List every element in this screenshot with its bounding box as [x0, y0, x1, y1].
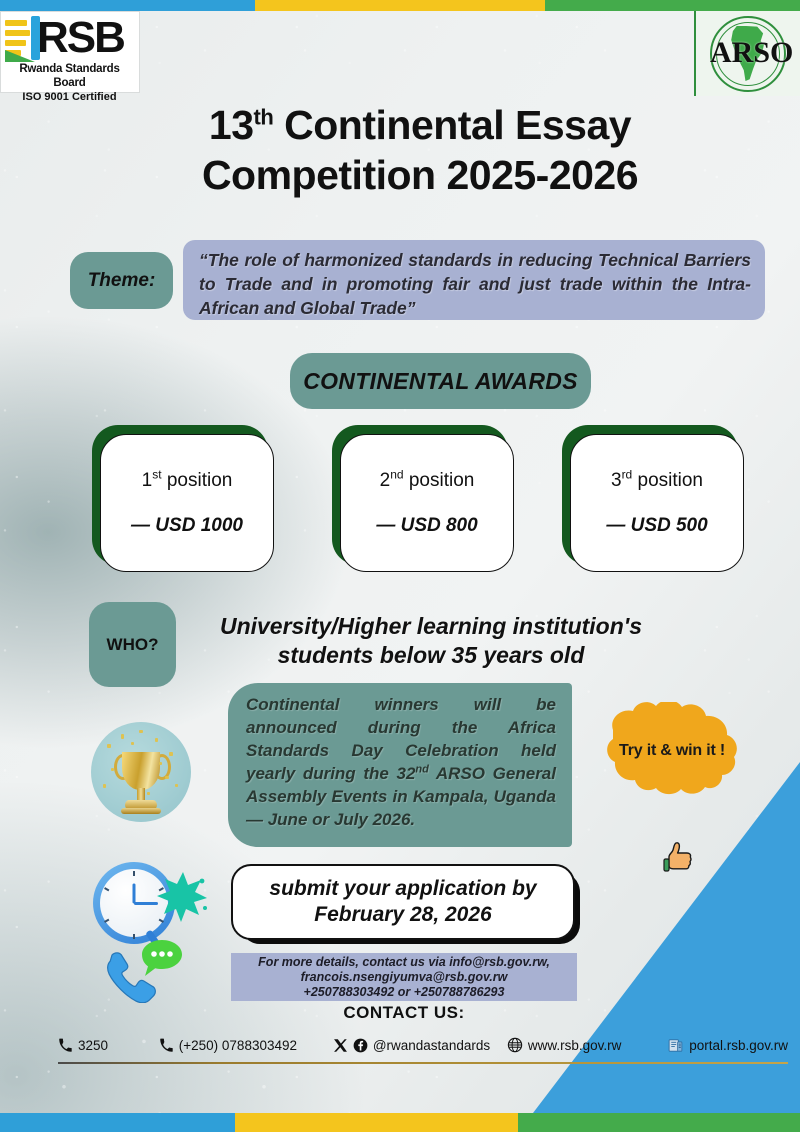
award-position-word: position [162, 470, 233, 491]
award-ordinal-number: 2 [380, 470, 391, 491]
theme-statement-box: “The role of harmonized standards in red… [183, 240, 765, 320]
confetti-dot [175, 784, 178, 787]
deadline-box: submit your application by February 28, … [231, 864, 575, 940]
thumbs-up-icon [655, 837, 699, 881]
clock-tick [133, 934, 135, 939]
rsb-logo: RSB Rwanda Standards Board ISO 9001 Cert… [0, 11, 140, 93]
footer-text-shortcode: 3250 [78, 1038, 108, 1053]
chat-bubble-icon [140, 938, 184, 978]
facebook-icon[interactable] [353, 1038, 368, 1053]
deadline-line1: submit your application by [269, 877, 536, 900]
title-line1-post: Continental Essay [273, 102, 631, 148]
trophy-base-plinth [121, 808, 161, 814]
award-ordinal-number: 3 [611, 470, 622, 491]
title-line2: Competition 2025-2026 [202, 152, 638, 198]
award-prize-amount: — USD 500 [606, 515, 707, 537]
award-position-label: 1st position [142, 469, 233, 493]
clock-tick [133, 871, 135, 876]
confetti-dot [147, 792, 150, 795]
confetti-dot [121, 734, 124, 739]
announcement-box: Continental winners will be announced du… [228, 683, 572, 847]
title-line1-pre: 13 [209, 102, 254, 148]
confetti-dot [139, 730, 143, 733]
top-bar-green [545, 0, 800, 11]
footer-item-website[interactable]: www.rsb.gov.rw [507, 1037, 667, 1053]
trophy-image [91, 722, 191, 822]
award-prize-amount: — USD 800 [376, 515, 477, 537]
rsb-wordmark: RSB [37, 16, 124, 60]
announcement-ordinal-suffix: nd [415, 763, 428, 775]
details-line3: +250788303492 or +250788786293 [304, 985, 505, 999]
footer-item-shortcode: 3250 [58, 1038, 159, 1053]
poster-canvas: RSB Rwanda Standards Board ISO 9001 Cert… [0, 0, 800, 1132]
contact-us-heading: CONTACT US: [231, 1003, 577, 1023]
try-it-cloud-callout: Try it & win it ! [583, 702, 761, 812]
award-position-word: position [404, 470, 475, 491]
footer-divider [58, 1062, 788, 1064]
award-ordinal-number: 1 [142, 470, 153, 491]
rsb-flag-icon [5, 16, 39, 60]
theme-label-pill: Theme: [70, 252, 173, 309]
award-ordinal-suffix: nd [390, 468, 403, 482]
award-card-third: 3rd position — USD 500 [562, 425, 744, 572]
award-position-word: position [632, 470, 703, 491]
confetti-dot [107, 744, 111, 748]
top-bar-yellow [255, 0, 545, 11]
confetti-dot [169, 752, 173, 756]
award-ordinal-suffix: rd [622, 468, 633, 482]
contact-details-box: For more details, contact us via info@rs… [231, 953, 577, 1001]
clock-hour-hand [133, 884, 136, 904]
details-line2: francois.nsengiyumva@rsb.gov.rw [301, 970, 508, 984]
bottom-bar-blue [0, 1113, 235, 1132]
rsb-organisation-name: Rwanda Standards Board [3, 62, 136, 90]
footer-item-social[interactable]: @rwandastandards [333, 1038, 507, 1053]
award-position-label: 2nd position [380, 469, 475, 493]
footer-text-phone: (+250) 0788303492 [179, 1038, 297, 1053]
footer-item-portal[interactable]: portal.rsb.gov.rw [667, 1037, 788, 1054]
award-prize-amount: — USD 1000 [131, 515, 243, 537]
confetti-dot [165, 776, 169, 779]
portal-icon [667, 1037, 684, 1054]
footer-item-phone: (+250) 0788303492 [159, 1038, 333, 1053]
globe-icon [507, 1037, 523, 1053]
award-card-face: 2nd position — USD 800 [340, 434, 514, 572]
bottom-bar-yellow [235, 1113, 518, 1132]
award-ordinal-suffix: st [152, 468, 161, 482]
top-bar-blue [0, 0, 255, 11]
footer-text-website: www.rsb.gov.rw [528, 1038, 622, 1053]
who-label-pill: WHO? [89, 602, 176, 687]
confetti-dot [103, 784, 106, 788]
arso-wordmark: ARSO [710, 36, 786, 70]
confetti-dot [159, 762, 162, 765]
cloud-text: Try it & win it ! [583, 742, 761, 760]
title-ordinal-suffix: th [254, 104, 274, 129]
confetti-dot [131, 742, 134, 745]
phone-icon [159, 1038, 174, 1053]
arso-logo: ARSO [694, 11, 800, 96]
rsb-logo-mark: RSB [3, 14, 136, 62]
bottom-bar-green [518, 1113, 800, 1132]
award-position-label: 3rd position [611, 469, 703, 493]
top-color-bar [0, 0, 800, 11]
details-line1: For more details, contact us via info@rs… [258, 955, 550, 969]
rsb-iso-certification: ISO 9001 Certified [3, 91, 136, 104]
award-card-first: 1st position — USD 1000 [92, 425, 274, 572]
award-card-face: 1st position — USD 1000 [100, 434, 274, 572]
page-title: 13th Continental Essay Competition 2025-… [120, 100, 720, 200]
footer-text-social: @rwandastandards [373, 1038, 490, 1053]
confetti-dot [155, 738, 158, 742]
sparkle-burst-icon [155, 868, 211, 924]
bottom-color-bar [0, 1113, 800, 1132]
awards-heading-label: CONTINENTAL AWARDS [303, 368, 578, 395]
trophy-cup-icon [122, 752, 160, 790]
continental-awards-heading: CONTINENTAL AWARDS [290, 353, 591, 409]
confetti-dot [111, 768, 114, 771]
footer-contact-strip: 3250 (+250) 0788303492 @rwandastandards … [58, 1030, 788, 1060]
arso-logo-mark: ARSO [710, 16, 786, 92]
award-card-second: 2nd position — USD 800 [332, 425, 514, 572]
eligibility-text: University/Higher learning institution's… [196, 612, 666, 670]
phone-icon [58, 1038, 73, 1053]
footer-text-portal: portal.rsb.gov.rw [689, 1038, 788, 1053]
who-label: WHO? [107, 635, 159, 655]
theme-label: Theme: [88, 270, 156, 292]
x-twitter-icon[interactable] [333, 1038, 348, 1053]
deadline-line2: February 28, 2026 [314, 903, 491, 926]
award-card-face: 3rd position — USD 500 [570, 434, 744, 572]
